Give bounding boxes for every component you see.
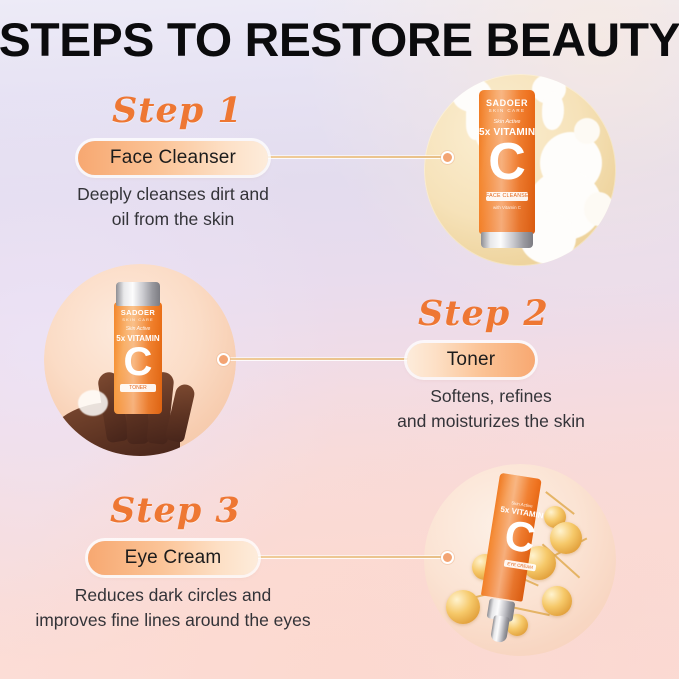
step-label-3: Step 3 xyxy=(110,490,241,531)
connector-dot-step-3 xyxy=(441,551,454,564)
connector-dot-step-1 xyxy=(441,151,454,164)
product-line-1: Skin Active xyxy=(114,326,162,332)
molecule-sphere xyxy=(542,586,572,616)
product-image-toner: SADOER SKIN CARE Skin Active 5x VITAMIN … xyxy=(44,264,236,456)
product-pill-eye-cream[interactable]: Eye Cream xyxy=(88,541,258,575)
molecule-sphere xyxy=(550,522,582,554)
cleanser-tube-cap xyxy=(481,232,533,248)
product-fine-print: with Vitamin C xyxy=(479,205,535,210)
product-pill-face-cleanser[interactable]: Face Cleanser xyxy=(78,141,268,175)
step-description-1-line-2: oil from the skin xyxy=(48,207,298,232)
foam-blob xyxy=(584,192,614,226)
vitamin-c-letter: C xyxy=(493,513,547,562)
step-description-3-line-1: Reduces dark circles and xyxy=(22,583,324,608)
step-description-2-line-1: Softens, refines xyxy=(346,384,636,409)
product-pill-label: Toner xyxy=(447,349,496,371)
product-brand-sub: SKIN CARE xyxy=(114,317,162,322)
step-description-3-line-2: improves fine lines around the eyes xyxy=(8,608,338,633)
product-pill-toner[interactable]: Toner xyxy=(407,343,535,377)
product-line-1: Skin Active xyxy=(479,119,535,125)
infographic-canvas: STEPS TO RESTORE BEAUTY SADOER SKIN CARE… xyxy=(0,0,679,679)
connector-line-step-2 xyxy=(224,358,410,360)
connector-line-step-1 xyxy=(268,156,448,158)
cream-highlight xyxy=(78,390,108,416)
vitamin-c-letter: C xyxy=(479,136,535,188)
step-label-2: Step 2 xyxy=(418,293,549,334)
step-description-2-line-2: and moisturizes the skin xyxy=(346,409,636,434)
connector-dot-step-2 xyxy=(217,353,230,366)
product-brand: SADOER xyxy=(114,308,162,317)
step-label-1: Step 1 xyxy=(112,90,243,131)
product-brand: SADOER xyxy=(479,98,535,108)
product-pill-label: Eye Cream xyxy=(125,547,222,569)
foam-blob xyxy=(574,118,600,144)
product-chip-label: TONER xyxy=(120,385,156,391)
page-title: STEPS TO RESTORE BEAUTY xyxy=(0,12,679,67)
vitamin-c-letter: C xyxy=(114,342,162,382)
product-chip-label: FACE CLEANSER xyxy=(486,193,528,200)
connector-line-step-3 xyxy=(258,556,448,558)
toner-bottle-cap xyxy=(116,282,160,306)
product-pill-label: Face Cleanser xyxy=(110,147,236,169)
step-description-1-line-1: Deeply cleanses dirt and xyxy=(48,182,298,207)
product-brand-sub: SKIN CARE xyxy=(479,108,535,113)
product-image-face-cleanser: SADOER SKIN CARE Skin Active 5x VITAMIN … xyxy=(424,74,616,266)
molecule-sphere xyxy=(446,590,480,624)
